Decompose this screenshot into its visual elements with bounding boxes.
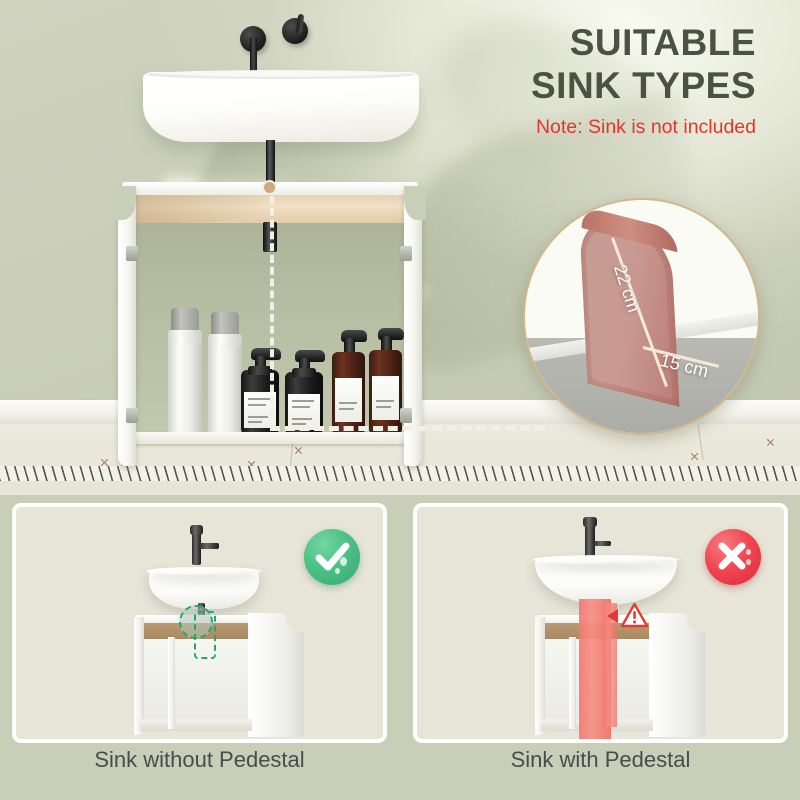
- check-circle-icon: [304, 529, 360, 585]
- mini-cabinet-left-side: [134, 617, 144, 735]
- caption-sink-without-pedestal: Sink without Pedestal: [12, 747, 387, 773]
- cross-circle-icon: [705, 529, 761, 585]
- headline-line-2: SINK TYPES: [531, 65, 756, 108]
- bottle-label: [288, 394, 320, 430]
- mini-faucet-cap: [190, 525, 203, 535]
- pump-shoulder: [248, 366, 272, 375]
- mini-cabinet-right-side: [649, 613, 705, 737]
- mini-cabinet-base: [140, 719, 252, 731]
- mini-sink-rim: [146, 567, 262, 575]
- sink-basin: [143, 72, 419, 142]
- status-badge-cross: [705, 529, 761, 585]
- headline-note: Note: Sink is not included: [531, 116, 756, 139]
- hero-scene: 22 cm 15 cm SUITABLE SINK TYPES Note: Si…: [0, 0, 800, 495]
- bottle-collar: [168, 330, 202, 343]
- pump-neck: [381, 336, 392, 350]
- caption-sink-with-pedestal: Sink with Pedestal: [413, 747, 788, 773]
- bottle-label: [335, 378, 363, 422]
- dashed-leader-line-vertical: [270, 196, 274, 428]
- bottle-collar: [208, 334, 242, 347]
- panel-sink-with-pedestal[interactable]: [413, 503, 788, 743]
- drain-connection-highlight-rect: [194, 611, 216, 659]
- pump-bottle-amber: [369, 350, 402, 434]
- headline-block: SUITABLE SINK TYPES Note: Sink is not in…: [531, 22, 756, 139]
- warning-arrow-icon: [607, 609, 618, 623]
- mini-cabinet-divider: [569, 637, 576, 729]
- cabinet-door-right[interactable]: [404, 186, 422, 466]
- status-badge-check: [304, 529, 360, 585]
- hinge-icon: [126, 246, 138, 261]
- floor-border-strip: [0, 466, 800, 481]
- storage-bottle-tall: [208, 342, 242, 434]
- hinge-icon: [400, 246, 412, 261]
- hinge-icon: [400, 408, 412, 423]
- floor-foreground: [0, 481, 800, 495]
- mini-faucet-cap: [583, 517, 597, 527]
- comparison-section: Sink without Pedestal: [0, 495, 800, 800]
- mini-cabinet-divider: [168, 637, 175, 729]
- pump-neck: [344, 338, 355, 352]
- bottle-label: [372, 376, 400, 420]
- warning-triangle-icon: [621, 603, 648, 628]
- panel-sink-without-pedestal[interactable]: [12, 503, 387, 743]
- pump-bottle-dark: [285, 372, 323, 434]
- infographic-page: 22 cm 15 cm SUITABLE SINK TYPES Note: Si…: [0, 0, 800, 800]
- storage-bottle-tall: [168, 338, 202, 434]
- cabinet-door-left[interactable]: [118, 186, 136, 466]
- circle-marker-icon: [262, 180, 277, 195]
- mini-cabinet-right-side: [248, 613, 304, 737]
- headline-line-1: SUITABLE: [531, 22, 756, 65]
- mini-sink-rim: [533, 555, 679, 564]
- sink-rim: [147, 70, 415, 79]
- mini-faucet-spout: [199, 543, 219, 549]
- mini-cabinet-left-side: [535, 617, 545, 735]
- mini-faucet-spout: [593, 541, 611, 546]
- hinge-icon: [126, 408, 138, 423]
- pump-bottle-amber: [332, 352, 365, 434]
- cabinet-shelf: [128, 432, 412, 444]
- magnifier-circle-icon: 22 cm 15 cm: [523, 198, 760, 435]
- dashed-leader-line-horizontal: [270, 426, 545, 431]
- pump-shoulder: [292, 368, 316, 377]
